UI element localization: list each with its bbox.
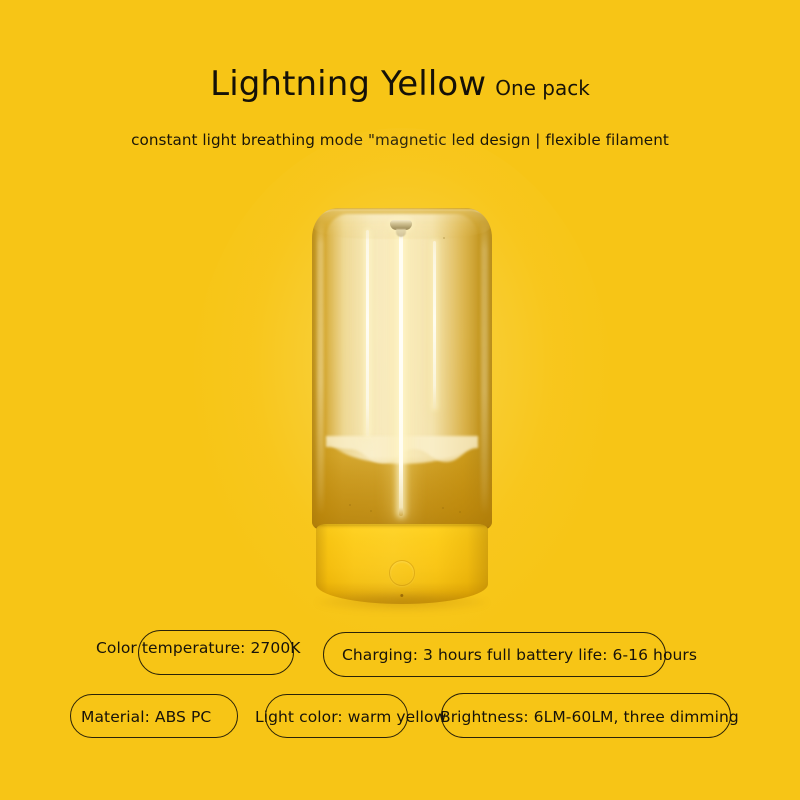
lamp-top-rim <box>314 209 490 239</box>
lamp-rim-highlight-right <box>481 220 488 516</box>
lamp-contact-shadow <box>316 594 488 612</box>
lamp-glass-shade <box>312 208 492 530</box>
lamp-filament-left <box>366 230 369 436</box>
lamp-base <box>316 524 488 604</box>
page-title: Lightning Yellow One pack <box>0 64 800 104</box>
feature-label-color-temperature: Color temperature: 2700K <box>96 638 301 658</box>
feature-label-material: Material: ABS PC <box>81 707 211 727</box>
product-image-canvas: Lightning Yellow One pack constant light… <box>0 0 800 800</box>
lamp-filament-center <box>399 228 403 516</box>
glass-speck <box>459 511 461 513</box>
lamp-base-top-edge <box>316 524 488 529</box>
glass-speck <box>443 237 445 239</box>
product-subtitle: constant light breathing mode "magnetic … <box>0 129 800 151</box>
product-title-suffix: One pack <box>495 75 590 101</box>
feature-label-light-color: Light color: warm yellow <box>255 707 446 727</box>
product-lamp <box>312 208 492 604</box>
feature-label-charging: Charging: 3 hours full battery life: 6-1… <box>342 645 697 665</box>
product-title: Lightning Yellow <box>210 64 486 104</box>
glass-speck <box>370 510 372 512</box>
lamp-filament-right <box>433 241 436 409</box>
lamp-rim-highlight-left <box>317 220 324 516</box>
glass-speck <box>349 504 351 506</box>
glass-speck <box>442 507 444 509</box>
feature-label-brightness: Brightness: 6LM-60LM, three dimming <box>440 707 739 727</box>
